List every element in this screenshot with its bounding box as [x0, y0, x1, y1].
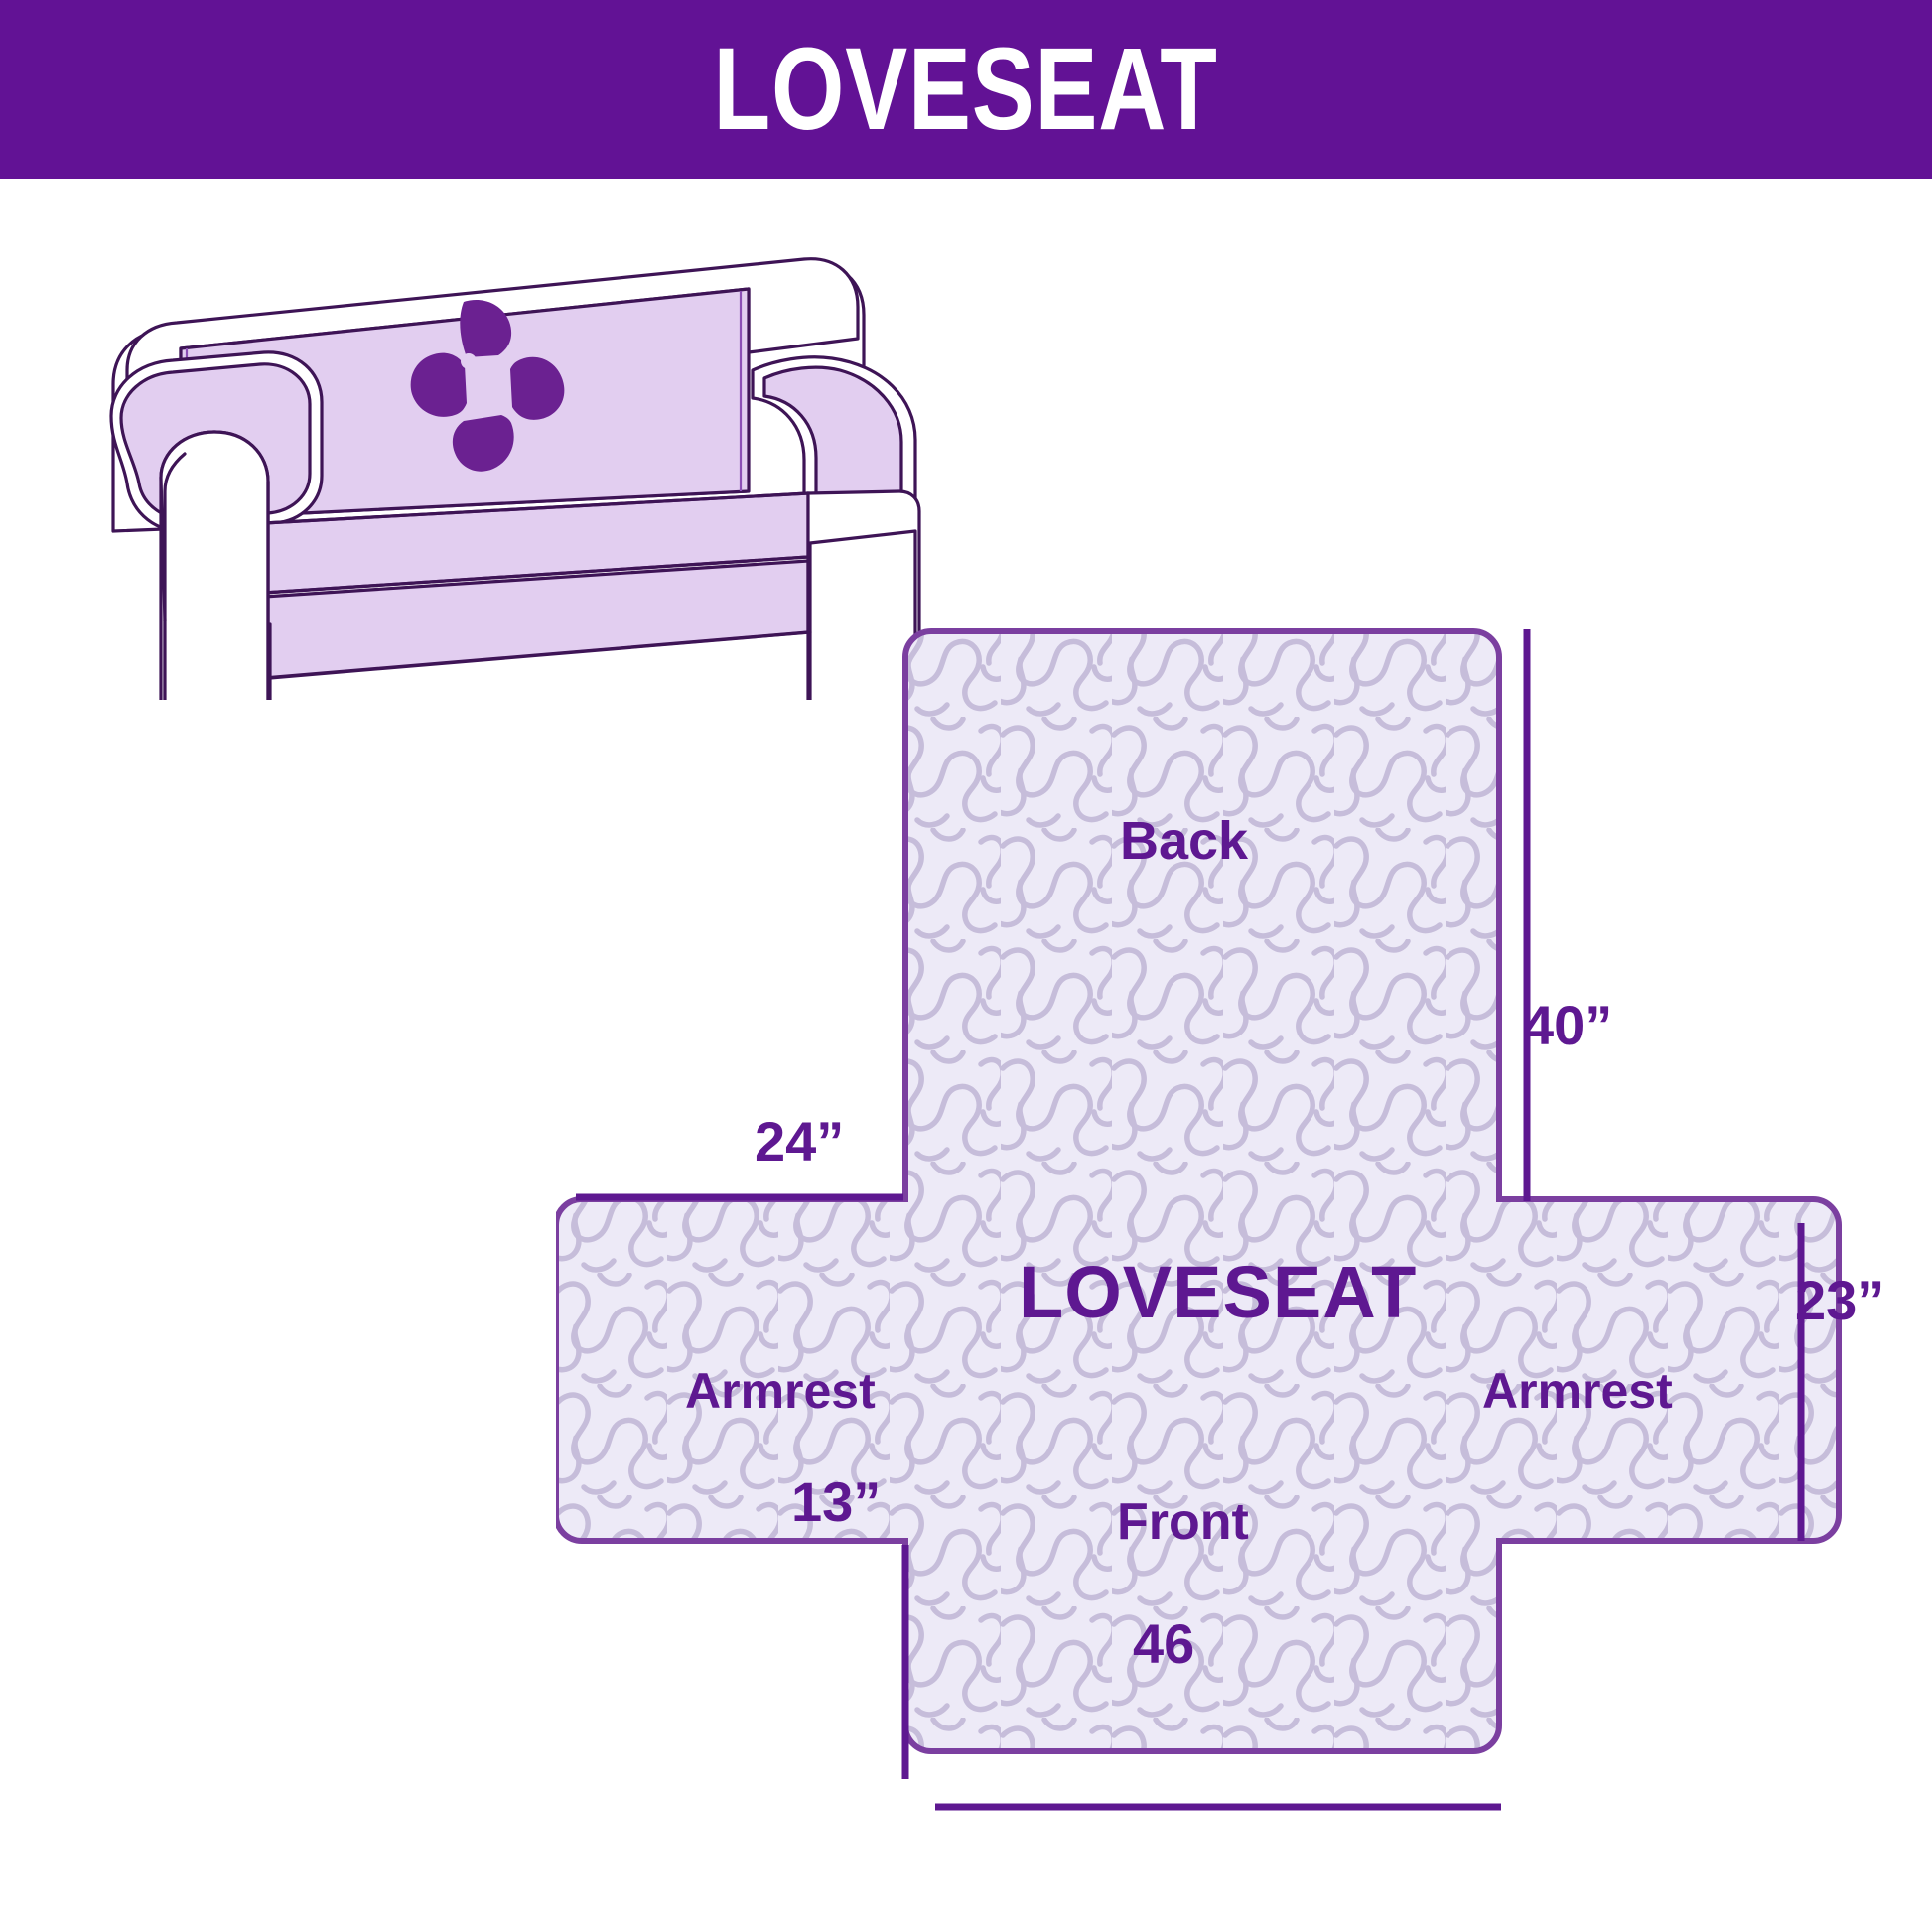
page-title: LOVESEAT	[714, 31, 1218, 148]
dimension-label-armrest-width: 24”	[755, 1114, 844, 1170]
dimension-label-front-height: 13”	[791, 1474, 881, 1530]
header-banner: LOVESEAT	[0, 0, 1932, 179]
panel-label-armrest-left: Armrest	[685, 1366, 876, 1416]
panel-label-back: Back	[1120, 814, 1248, 868]
dimension-label-front-width: 46	[1133, 1616, 1194, 1672]
cover-cross-shape	[556, 631, 1839, 1751]
panel-label-front: Front	[1117, 1496, 1249, 1548]
dimension-label-armrest-height: 23”	[1795, 1273, 1884, 1328]
panel-label-center: LOVESEAT	[1019, 1256, 1417, 1329]
dimension-label-back-height: 40”	[1523, 998, 1612, 1053]
panel-label-armrest-right: Armrest	[1482, 1366, 1673, 1416]
diagram-stage: .so{fill:none;stroke:#3E1456;stroke-widt…	[0, 179, 1932, 1932]
